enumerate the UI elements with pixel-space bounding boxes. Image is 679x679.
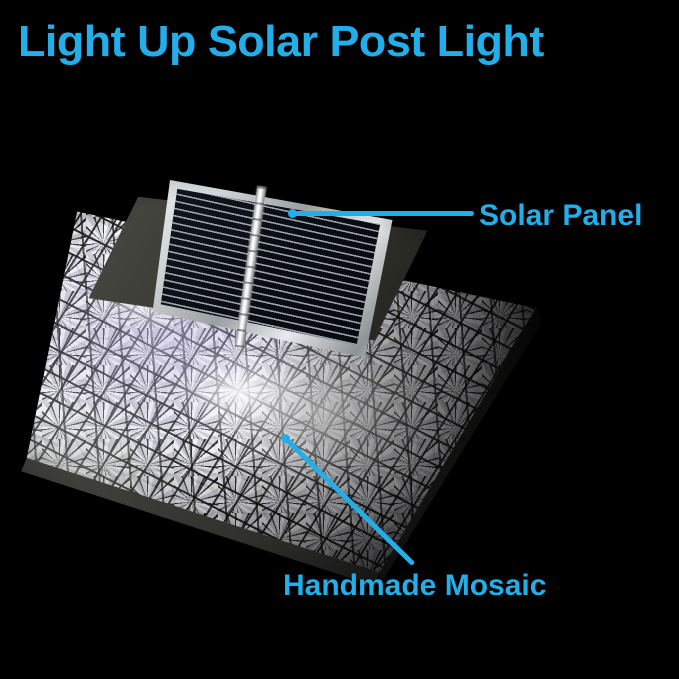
callout-label-handmade-mosaic: Handmade Mosaic	[283, 569, 546, 603]
leader-line-icon-solar-panel	[290, 211, 474, 216]
dot-marker-icon-solar-panel	[288, 209, 297, 218]
dot-marker-icon-handmade-mosaic	[281, 434, 290, 443]
product-image-canvas: Light Up Solar Post Light Solar Panel	[0, 0, 679, 679]
callout-label-solar-panel: Solar Panel	[479, 199, 642, 233]
page-title: Light Up Solar Post Light	[18, 16, 675, 68]
solar-post-light-product	[0, 120, 620, 630]
